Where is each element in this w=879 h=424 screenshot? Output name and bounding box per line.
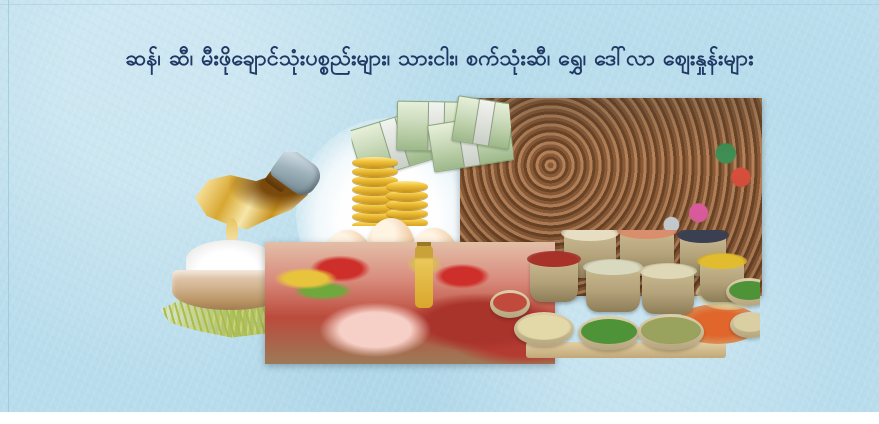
pulse-dish — [514, 312, 574, 346]
banknote-band — [472, 99, 496, 145]
pulse-fill — [677, 230, 729, 243]
gold-coin — [386, 181, 428, 192]
pulse-fill — [493, 293, 527, 312]
pulse-basket — [586, 266, 640, 312]
top-edge-line — [0, 4, 879, 5]
cooking-oil-splash-image — [182, 152, 322, 242]
pulse-fill — [517, 315, 571, 340]
oil-bottle-in-meat-photo — [415, 246, 433, 308]
pulse-fill — [581, 319, 637, 344]
pulse-fill — [583, 259, 643, 275]
banknote-stack — [451, 95, 515, 150]
banner-headline: ဆန်၊ ဆီ၊ မီးဖိုချောင်သုံးပစ္စည်းများ၊ သာ… — [0, 44, 879, 74]
pulse-fill — [527, 251, 581, 267]
beans-pulses-image — [490, 230, 760, 365]
commodity-collage — [160, 100, 760, 365]
pulse-basket — [530, 258, 578, 302]
pulse-fill — [561, 230, 619, 241]
pulse-fill — [733, 315, 760, 332]
pulse-basket — [642, 270, 694, 314]
oil-droplet — [226, 218, 238, 242]
pulse-dish — [578, 316, 640, 350]
pulse-fill — [641, 317, 701, 344]
pulse-fill — [729, 281, 760, 300]
pulse-fill — [697, 253, 747, 269]
gold-coin — [352, 157, 398, 168]
price-news-banner: ဆန်၊ ဆီ၊ မီးဖိုချောင်သုံးပစ္စည်းများ၊ သာ… — [0, 0, 879, 424]
pulse-dish — [638, 314, 704, 350]
pulse-dish — [490, 290, 530, 318]
pulse-fill — [617, 230, 677, 239]
pulse-fill — [639, 263, 697, 279]
bottom-white-strip — [0, 412, 879, 424]
